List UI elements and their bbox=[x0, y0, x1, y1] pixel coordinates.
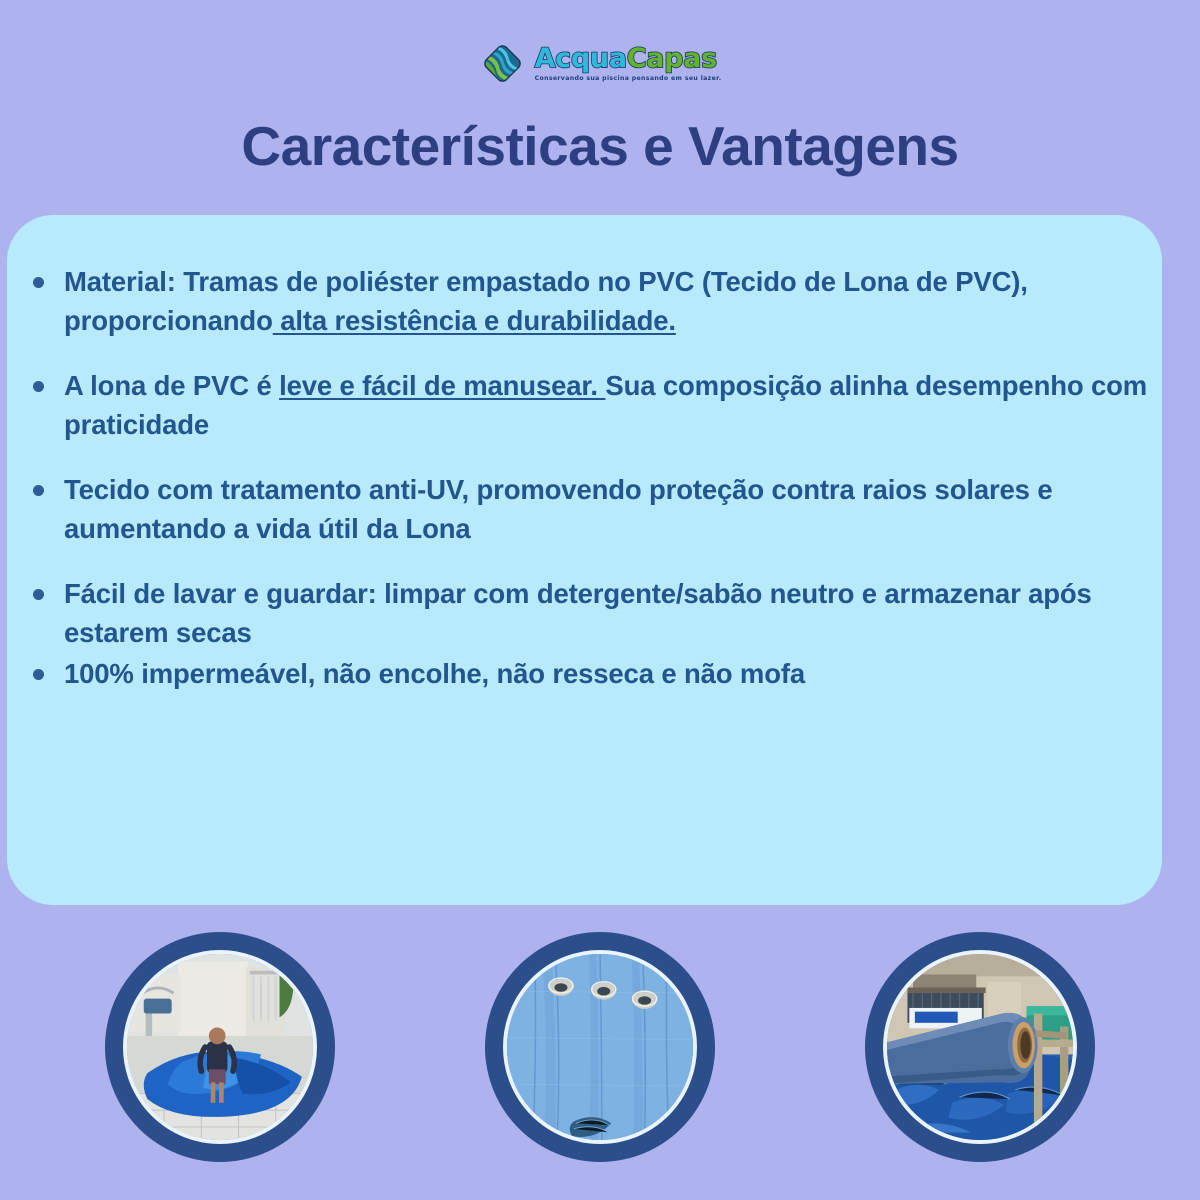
bullet-dot-icon bbox=[33, 277, 44, 288]
brand-logo: AcquaCapas Conservando sua piscina pensa… bbox=[0, 32, 1200, 94]
photo-tarp-grommets-closeup bbox=[485, 932, 715, 1162]
photo-image bbox=[507, 954, 693, 1140]
bullet-dot-icon bbox=[33, 589, 44, 600]
bullet-item-anti-uv: Tecido com tratamento anti-UV, promovend… bbox=[33, 470, 1153, 548]
page-title: Características e Vantagens bbox=[0, 116, 1200, 177]
bullet-dot-icon bbox=[33, 669, 44, 680]
bullet-segment: 100% impermeável, não encolhe, não resse… bbox=[64, 658, 805, 689]
photo-gallery bbox=[0, 932, 1200, 1182]
bullet-text: Fácil de lavar e guardar: limpar com det… bbox=[64, 574, 1153, 652]
photo-man-on-pool-cover bbox=[105, 932, 335, 1162]
bullet-item-material: Material: Tramas de poliéster empastado … bbox=[33, 262, 1153, 340]
features-card: Material: Tramas de poliéster empastado … bbox=[7, 215, 1162, 905]
bullet-item-impermeavel: 100% impermeável, não encolhe, não resse… bbox=[33, 654, 1153, 693]
bullet-dot-icon bbox=[33, 381, 44, 392]
brand-name-capas: Capas bbox=[627, 43, 717, 74]
features-bullet-list: Material: Tramas de poliéster empastado … bbox=[33, 262, 1153, 693]
bullet-item-lavar-guardar: Fácil de lavar e guardar: limpar com det… bbox=[33, 574, 1153, 652]
brand-wordmark: AcquaCapas Conservando sua piscina pensa… bbox=[535, 45, 722, 82]
wave-diamond-logo-icon bbox=[479, 40, 526, 87]
bullet-text: 100% impermeável, não encolhe, não resse… bbox=[64, 654, 1153, 693]
bullet-segment: Tecido com tratamento anti-UV, promovend… bbox=[64, 474, 1052, 544]
photo-image bbox=[127, 954, 313, 1140]
bullet-dot-icon bbox=[33, 485, 44, 496]
bullet-emphasis-underlined: leve e fácil de manusear. bbox=[279, 370, 605, 401]
bullet-item-leve-facil: A lona de PVC é leve e fácil de manusear… bbox=[33, 366, 1153, 444]
brand-tagline: Conservando sua piscina pensando em seu … bbox=[535, 75, 722, 82]
bullet-emphasis-underlined: alta resistência e durabilidade. bbox=[273, 305, 676, 336]
brand-name-acqua: Acqua bbox=[535, 43, 627, 74]
bullet-segment: A lona de PVC é bbox=[64, 370, 279, 401]
photo-pvc-roll-warehouse bbox=[865, 932, 1095, 1162]
bullet-text: Tecido com tratamento anti-UV, promovend… bbox=[64, 470, 1153, 548]
bullet-segment: Fácil de lavar e guardar: limpar com det… bbox=[64, 578, 1092, 648]
photo-image bbox=[887, 954, 1073, 1140]
bullet-text: A lona de PVC é leve e fácil de manusear… bbox=[64, 366, 1153, 444]
bullet-text: Material: Tramas de poliéster empastado … bbox=[64, 262, 1153, 340]
